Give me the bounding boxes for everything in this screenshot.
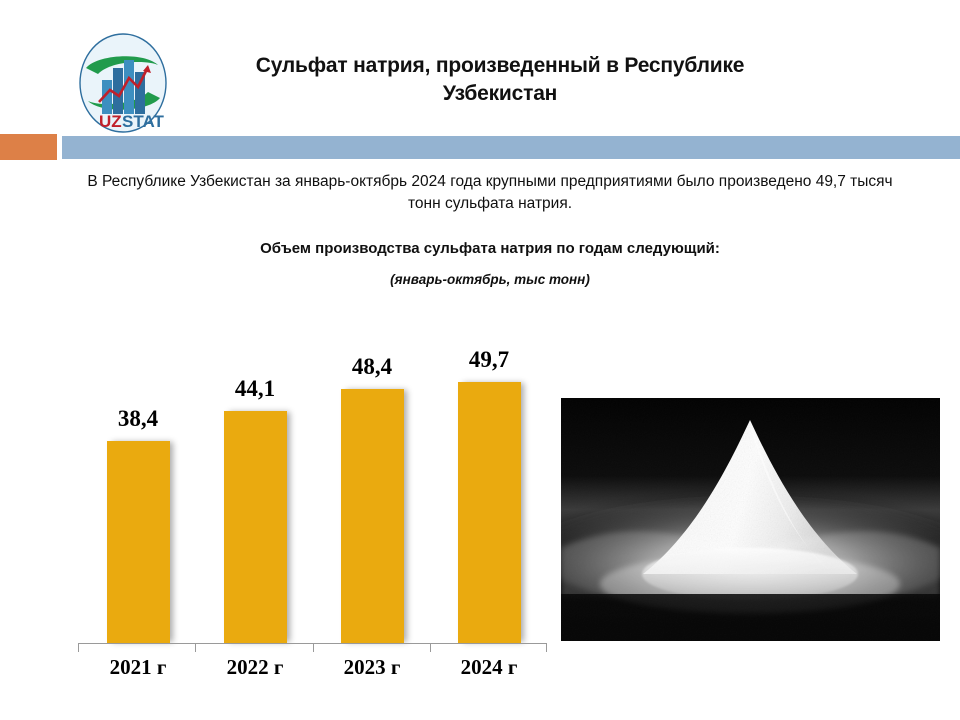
intro-paragraph: В Республике Узбекистан за январь-октябр… bbox=[80, 171, 900, 216]
x-axis-label-2024: 2024 г bbox=[429, 655, 549, 680]
slide-header: UZ STAT Сульфат натрия, произведенный в … bbox=[0, 0, 960, 134]
bar-value-2024: 49,7 bbox=[439, 347, 539, 373]
bar-value-2021: 38,4 bbox=[88, 406, 188, 432]
x-axis-label-2021: 2021 г bbox=[78, 655, 198, 680]
x-axis-tick bbox=[195, 643, 196, 652]
bar-2022 bbox=[224, 411, 287, 643]
uzstat-logo: UZ STAT bbox=[72, 32, 174, 134]
logo-stat-text: STAT bbox=[122, 112, 164, 131]
uzstat-logo-icon: UZ STAT bbox=[72, 32, 174, 134]
accent-bar-orange bbox=[0, 134, 57, 160]
x-axis-label-2022: 2022 г bbox=[195, 655, 315, 680]
accent-bar-blue bbox=[62, 136, 960, 159]
bar-2023 bbox=[341, 389, 404, 643]
bar-2024 bbox=[458, 382, 521, 643]
x-axis-tick bbox=[546, 643, 547, 652]
chart-subheading: Объем производства сульфата натрия по го… bbox=[80, 240, 900, 257]
x-axis-label-2023: 2023 г bbox=[312, 655, 432, 680]
page-title: Сульфат натрия, произведенный в Республи… bbox=[200, 52, 800, 108]
bar-value-2022: 44,1 bbox=[205, 376, 305, 402]
bar-2021 bbox=[107, 441, 170, 643]
powder-cone-image bbox=[561, 398, 940, 641]
logo-uz-text: UZ bbox=[99, 112, 122, 131]
x-axis-tick bbox=[430, 643, 431, 652]
chart-units-note: (январь-октябрь, тыс тонн) bbox=[80, 272, 900, 287]
x-axis-tick bbox=[313, 643, 314, 652]
bar-value-2023: 48,4 bbox=[322, 354, 422, 380]
x-axis-tick bbox=[78, 643, 79, 652]
x-axis-line bbox=[78, 643, 546, 644]
sodium-sulfate-photo bbox=[561, 398, 940, 641]
